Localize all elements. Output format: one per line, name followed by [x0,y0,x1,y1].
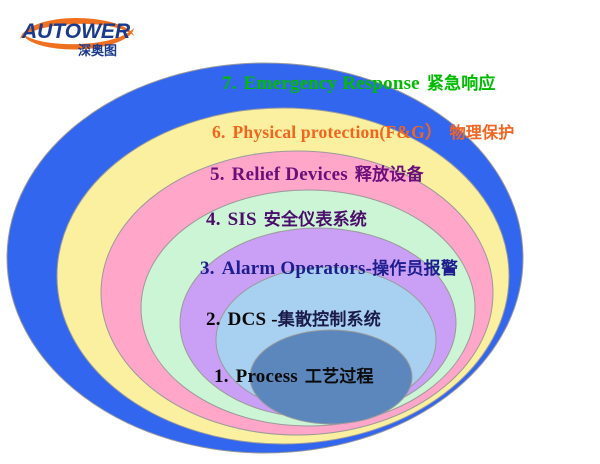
layer-1-number: 1. [214,366,229,387]
layer-label-2: 2.DCS -集散控制系统 [206,310,381,329]
layer-3-number: 3. [200,258,215,279]
layer-7-label-en: Emergency Response [244,73,420,94]
onion-ellipses [0,0,600,464]
layer-5-label-cn: 释放设备 [355,165,424,185]
layer-4-number: 4. [206,209,221,230]
layer-1-label-en: Process [236,366,298,387]
layer-label-7: 7.Emergency Response紧急响应 [222,74,496,93]
layer-5-label-en: Relief Devices [232,164,348,185]
layer-4-label-cn: 安全仪表系统 [264,210,367,230]
slide-canvas: AUTOWER 深奥图 7.Emergency Response紧急响应 6.P… [0,0,600,464]
layer-2-label-cn: 集散控制系统 [278,310,381,330]
layer-label-3: 3.Alarm Operators-操作员报警 [200,259,458,278]
layer-2-number: 2. [206,309,221,330]
layer-3-label-cn: 操作员报警 [372,259,458,279]
layer-6-label-en: Physical protection(F&G） [233,122,443,142]
layer-5-number: 5. [210,164,225,185]
layer-label-5: 5.Relief Devices释放设备 [210,165,424,184]
layer-7-number: 7. [222,73,237,94]
layer-2-label-en: DCS - [228,309,278,330]
layer-label-6: 6.Physical protection(F&G）物理保护 [212,124,514,142]
layer-6-label-cn: 物理保护 [450,123,515,142]
layer-3-label-en: Alarm Operators- [222,258,372,279]
protection-layers-diagram [0,0,600,464]
layer-1-label-cn: 工艺过程 [305,367,374,387]
layer-6-number: 6. [212,122,226,142]
layer-7-label-cn: 紧急响应 [427,74,496,94]
layer-4-label-en: SIS [228,209,257,230]
layer-label-4: 4.SIS安全仪表系统 [206,210,367,229]
layer-label-1: 1.Process工艺过程 [214,367,374,386]
